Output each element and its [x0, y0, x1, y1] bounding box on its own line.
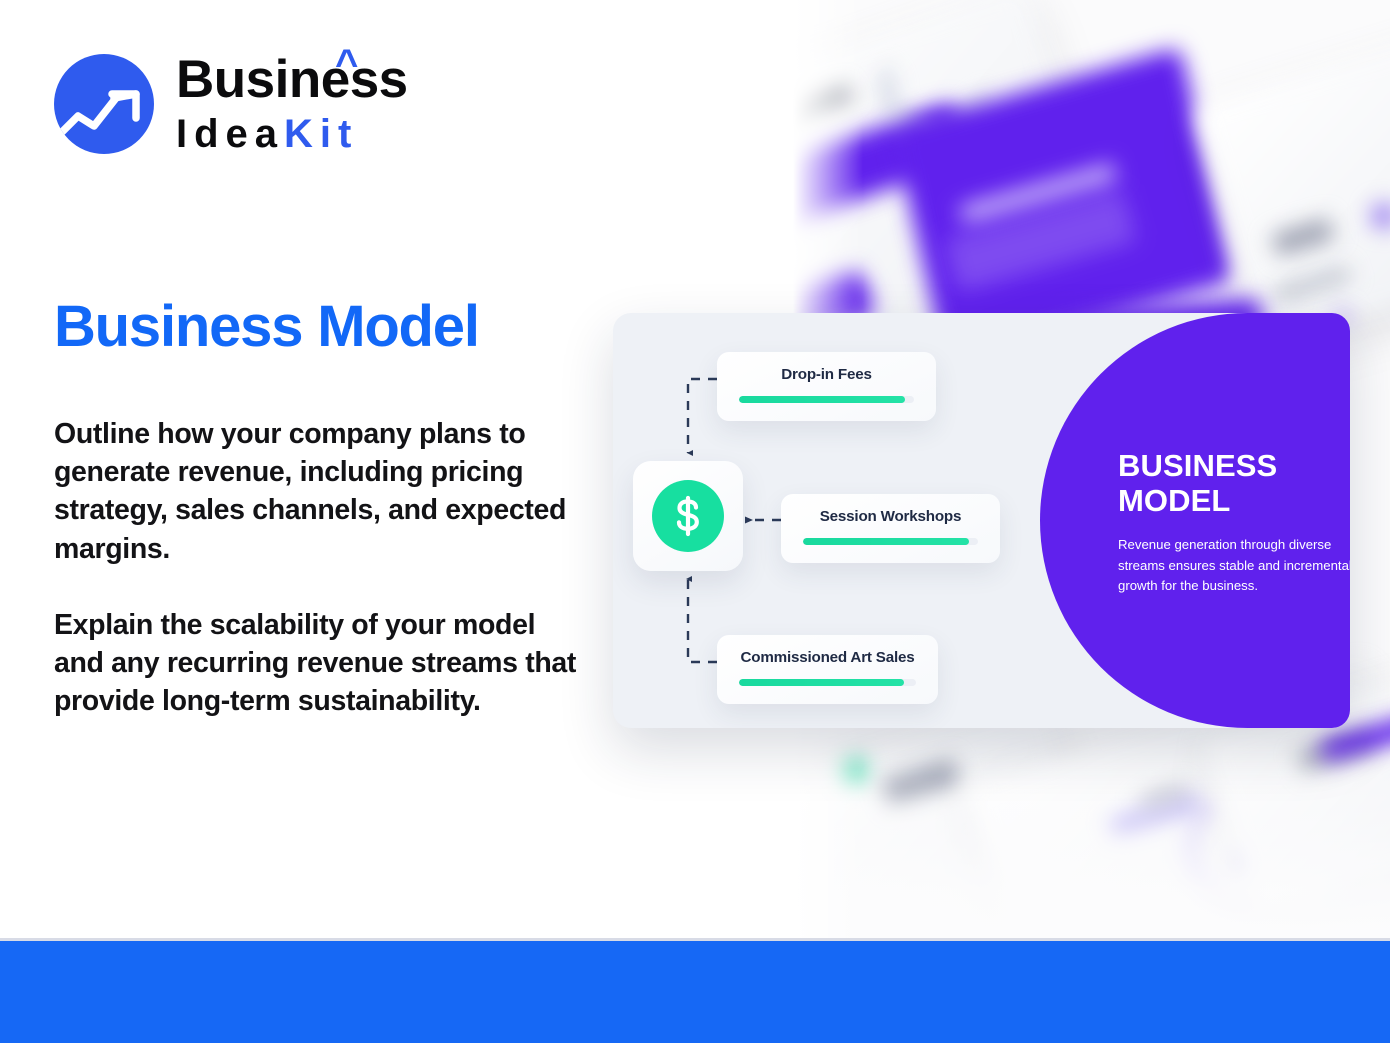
summary-panel-description: Revenue generation through diverse strea… — [1118, 535, 1350, 595]
stream-label: Session Workshops — [803, 508, 978, 525]
revenue-stream-card[interactable]: Drop-in Fees — [717, 352, 936, 421]
stream-progress-fill — [803, 538, 969, 545]
paragraph-1: Outline how your company plans to genera… — [54, 415, 584, 568]
business-model-card: Drop-in Fees Session Workshops Commissio… — [613, 313, 1350, 728]
dollar-sign-icon — [652, 480, 724, 552]
brand-line-2: IdeaKit — [176, 114, 408, 154]
stream-progress-track — [803, 538, 978, 545]
bg-ring-purple — [1178, 780, 1317, 919]
paragraph-2: Explain the scalability of your model an… — [54, 606, 584, 721]
brand-wordmark: Business ^ IdeaKit — [176, 53, 408, 154]
revenue-stream-card[interactable]: Commissioned Art Sales — [717, 635, 938, 704]
bg-sheet-2 — [1193, 23, 1390, 347]
bg-ring-green — [1215, 752, 1385, 922]
brand-logo[interactable]: Business ^ IdeaKit — [54, 53, 408, 154]
body-copy: Outline how your company plans to genera… — [54, 415, 584, 720]
stream-progress-fill — [739, 396, 905, 403]
stream-progress-track — [739, 679, 916, 686]
brand-circumflex-accent: ^ — [335, 44, 358, 84]
bg-sheet-4-line-1 — [1138, 785, 1187, 811]
brand-line-1: Business ^ — [176, 53, 408, 106]
stream-progress-fill — [739, 679, 904, 686]
bg-dot-purple-1 — [1371, 203, 1390, 229]
brand-name-kit: Kit — [284, 112, 358, 156]
growth-arrow-icon — [54, 54, 154, 154]
bg-sheet-4-bar-2 — [1233, 832, 1325, 873]
brand-name-idea: Idea — [176, 112, 284, 156]
footer-bar — [0, 941, 1390, 1043]
revenue-stream-card[interactable]: Session Workshops — [781, 494, 1000, 563]
summary-panel-title: BUSINESS MODEL — [1118, 449, 1350, 518]
page-title: Business Model — [54, 296, 479, 359]
summary-panel: BUSINESS MODEL Revenue generation throug… — [1040, 313, 1350, 728]
revenue-hub-node[interactable] — [633, 461, 743, 571]
bg-sheet-4-line-2 — [1262, 821, 1311, 847]
summary-panel-content: BUSINESS MODEL Revenue generation throug… — [1118, 449, 1350, 596]
stream-label: Drop-in Fees — [739, 366, 914, 383]
brand-name-business: Business — [176, 50, 408, 109]
stream-label: Commissioned Art Sales — [739, 649, 916, 666]
bg-sheet-4-bar-1 — [1109, 795, 1201, 836]
stream-progress-track — [739, 396, 914, 403]
bg-sheet-3-bar — [881, 759, 961, 806]
slide-root: Business ^ IdeaKit Business Model Outlin… — [0, 0, 1390, 1043]
